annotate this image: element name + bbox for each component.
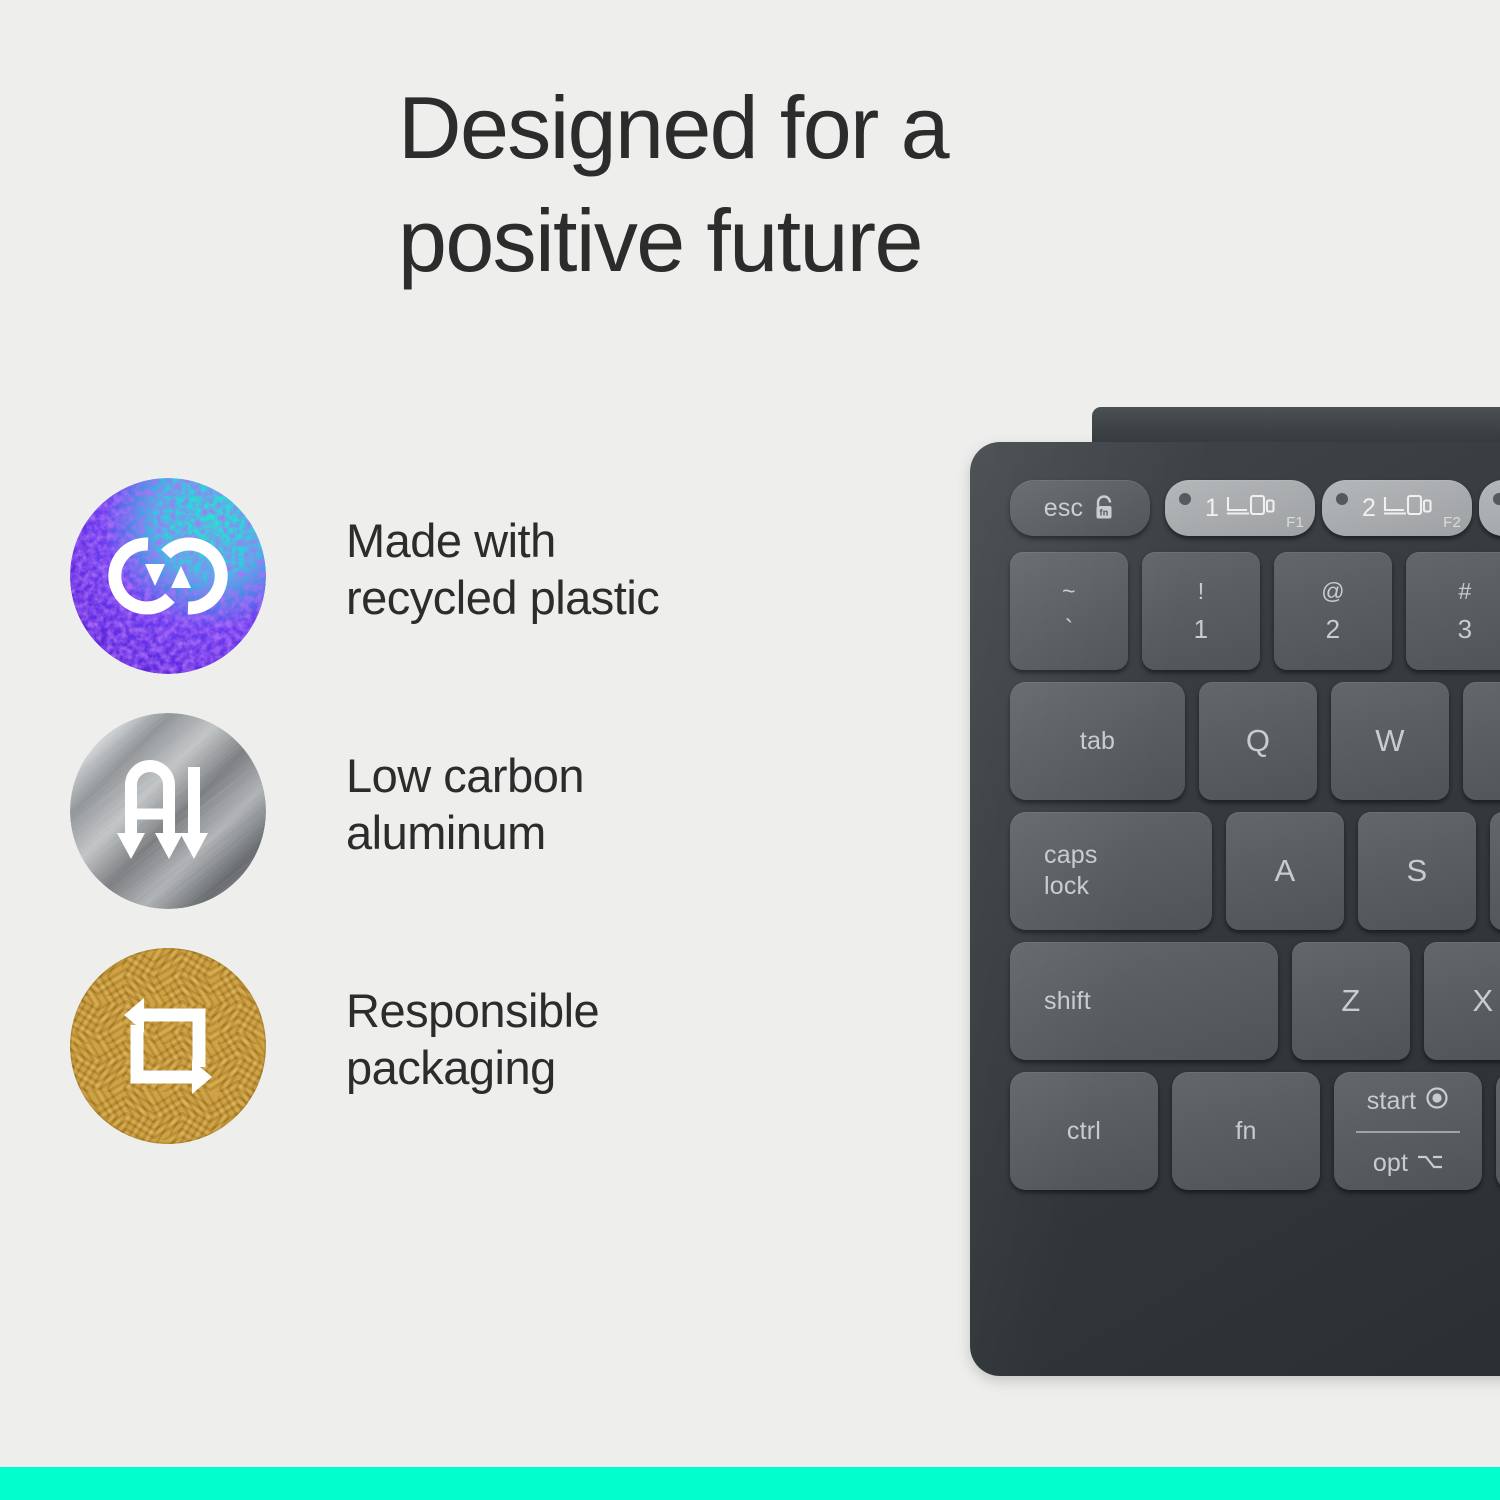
key-opt-label: opt <box>1373 1149 1408 1178</box>
key-x[interactable]: X <box>1424 942 1500 1060</box>
key-3-base: 3 <box>1458 616 1473 642</box>
key-a-label: A <box>1275 853 1296 889</box>
recycled-plastic-icon <box>70 478 266 674</box>
key-ctrl[interactable]: ctrl <box>1010 1072 1158 1190</box>
page-title: Designed for a positive future <box>398 72 1198 297</box>
key-tilde-base: ` <box>1065 616 1074 642</box>
key-opt-group: opt <box>1334 1149 1482 1178</box>
key-caps-lock-legends: caps lock <box>1010 841 1212 901</box>
key-esc[interactable]: esc fn <box>1010 480 1150 536</box>
windows-circle-icon <box>1425 1086 1449 1117</box>
key-1-shifted: ! <box>1198 580 1205 603</box>
key-f1[interactable]: 1 F1 <box>1165 480 1315 536</box>
key-w-label: W <box>1375 723 1404 759</box>
key-s[interactable]: S <box>1358 812 1476 930</box>
key-q[interactable]: Q <box>1199 682 1317 800</box>
key-z-label: Z <box>1341 983 1360 1019</box>
key-w[interactable]: W <box>1331 682 1449 800</box>
feature-label-line-2: recycled plastic <box>346 569 816 626</box>
option-alt-icon <box>1417 1149 1443 1178</box>
key-tilde[interactable]: ~ ` <box>1010 552 1128 670</box>
key-2-legends: @ 2 <box>1321 580 1345 642</box>
keyboard-product-image: esc fn 1 <box>946 390 1500 1400</box>
responsible-packaging-icon <box>70 948 266 1144</box>
key-1[interactable]: ! 1 <box>1142 552 1260 670</box>
device-switch-icon <box>1382 492 1432 525</box>
key-e[interactable]: E <box>1463 682 1500 800</box>
key-f1-code: F1 <box>1286 514 1304 531</box>
feature-label-line-1: Made with <box>346 512 816 569</box>
key-shift[interactable]: shift <box>1010 942 1278 1060</box>
key-fn-label: fn <box>1235 1117 1256 1146</box>
f3-led-indicator <box>1493 493 1500 505</box>
feature-label-line-1: Low carbon <box>346 747 816 804</box>
f1-led-indicator <box>1179 493 1191 505</box>
key-tab-label: tab <box>1080 727 1115 756</box>
key-tab[interactable]: tab <box>1010 682 1185 800</box>
feature-label-line-2: packaging <box>346 1039 816 1096</box>
headline-line-1: Designed for a <box>398 72 1198 185</box>
key-tilde-shifted: ~ <box>1062 580 1076 603</box>
key-esc-label: esc <box>1044 494 1084 523</box>
key-ctrl-label: ctrl <box>1067 1117 1101 1146</box>
key-f2-code: F2 <box>1443 514 1461 531</box>
low-carbon-aluminum-icon <box>70 713 266 909</box>
key-a[interactable]: A <box>1226 812 1344 930</box>
keyboard-body: esc fn 1 <box>970 442 1500 1376</box>
feature-item-low-carbon-aluminum: Low carbon aluminum <box>70 713 830 948</box>
feature-label-line-2: aluminum <box>346 804 816 861</box>
headline-line-2: positive future <box>398 185 1198 298</box>
feature-label-recycled-plastic: Made with recycled plastic <box>346 512 816 627</box>
feature-label-low-carbon-aluminum: Low carbon aluminum <box>346 747 816 862</box>
key-start-opt[interactable]: start opt <box>1334 1072 1482 1190</box>
key-2-shifted: @ <box>1321 580 1345 603</box>
feature-label-line-1: Responsible <box>346 982 816 1039</box>
key-2[interactable]: @ 2 <box>1274 552 1392 670</box>
feature-label-responsible-packaging: Responsible packaging <box>346 982 816 1097</box>
feature-item-recycled-plastic: Made with recycled plastic <box>70 478 830 713</box>
key-1-legends: ! 1 <box>1194 580 1209 642</box>
feature-item-responsible-packaging: Responsible packaging <box>70 948 830 1183</box>
key-cmd[interactable]: cr <box>1496 1072 1500 1190</box>
f2-led-indicator <box>1336 493 1348 505</box>
key-f2[interactable]: 2 F2 <box>1322 480 1472 536</box>
key-divider-line <box>1356 1131 1460 1133</box>
key-d[interactable]: D <box>1490 812 1500 930</box>
key-start-group: start <box>1334 1086 1482 1117</box>
key-q-label: Q <box>1246 723 1270 759</box>
feature-list: Made with recycled plastic <box>70 478 830 1183</box>
key-1-base: 1 <box>1194 616 1209 642</box>
accent-bar <box>0 1467 1500 1500</box>
key-cmd-label-group: cr <box>1496 1149 1500 1178</box>
key-fn[interactable]: fn <box>1172 1072 1320 1190</box>
key-3[interactable]: # 3 <box>1406 552 1500 670</box>
key-caps-lock[interactable]: caps lock <box>1010 812 1212 930</box>
key-z[interactable]: Z <box>1292 942 1410 1060</box>
key-caps-lock-line-1: caps <box>1044 841 1098 870</box>
key-s-label: S <box>1407 853 1428 889</box>
key-x-label: X <box>1473 983 1494 1019</box>
key-f3[interactable]: 3 <box>1479 480 1500 536</box>
key-f2-number: 2 <box>1362 494 1376 523</box>
key-f1-number: 1 <box>1205 494 1219 523</box>
key-2-base: 2 <box>1326 616 1341 642</box>
key-3-legends: # 3 <box>1458 580 1473 642</box>
device-switch-icon <box>1225 492 1275 525</box>
fn-lock-icon: fn <box>1092 495 1116 521</box>
key-tilde-legends: ~ ` <box>1062 580 1076 642</box>
key-caps-lock-line-2: lock <box>1044 872 1089 901</box>
key-3-shifted: # <box>1458 580 1471 603</box>
svg-text:fn: fn <box>1100 508 1109 518</box>
key-shift-label: shift <box>1010 987 1278 1016</box>
key-start-label: start <box>1367 1087 1417 1116</box>
poster-canvas: Designed for a positive future <box>0 0 1500 1500</box>
